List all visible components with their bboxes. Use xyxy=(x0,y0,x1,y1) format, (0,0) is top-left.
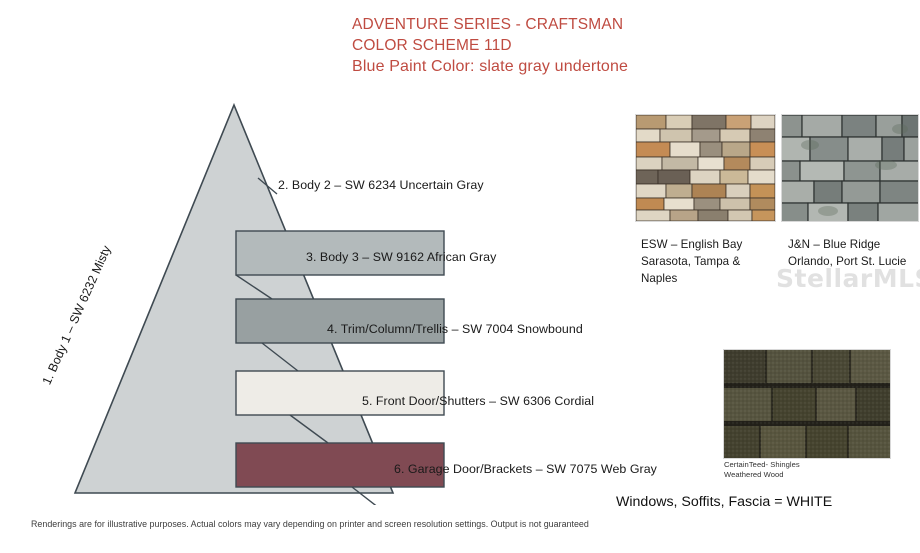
windows-soffits-fascia-note: Windows, Soffits, Fascia = WHITE xyxy=(616,494,832,510)
swatch-bar-trim xyxy=(236,371,444,415)
shingle-caption: CertainTeed- Shingles Weathered Wood xyxy=(724,460,894,480)
stone-esw-caption-l3: Naples xyxy=(641,270,776,287)
stone-photo-esw xyxy=(635,114,776,222)
shingle-caption-l2: Weathered Wood xyxy=(724,470,894,480)
stone-esw-caption-l2: Sarasota, Tampa & xyxy=(641,253,776,270)
stone-photo-jn xyxy=(781,114,919,222)
color-scheme-board: ADVENTURE SERIES - CRAFTSMAN COLOR SCHEM… xyxy=(0,0,920,553)
shingle-caption-l1: CertainTeed- Shingles xyxy=(724,460,894,470)
stone-jn-caption: J&N – Blue Ridge Orlando, Port St. Lucie xyxy=(788,236,920,270)
title-line-scheme: COLOR SCHEME 11D xyxy=(352,35,772,56)
disclaimer-text: Renderings are for illustrative purposes… xyxy=(31,519,589,529)
swatch-label-trim: 4. Trim/Column/Trellis – SW 7004 Snowbou… xyxy=(327,322,583,336)
stone-esw-caption: ESW – English Bay Sarasota, Tampa & Napl… xyxy=(641,236,776,287)
swatch-label-body3: 3. Body 3 – SW 9162 African Gray xyxy=(306,250,496,264)
shingle-image xyxy=(724,350,890,458)
stone-jn-caption-l2: Orlando, Port St. Lucie xyxy=(788,253,920,270)
swatch-bar-body3 xyxy=(236,299,444,343)
paint-scheme-diagram: 1. Body 1 – SW 6232 Misty 2. Body 2 – SW… xyxy=(0,95,680,505)
stone-esw-caption-l1: ESW – English Bay xyxy=(641,236,776,253)
diagram-svg xyxy=(0,95,680,505)
stone-esw-image xyxy=(636,115,775,221)
swatch-label-body2: 2. Body 2 – SW 6234 Uncertain Gray xyxy=(278,178,484,192)
stone-jn-image xyxy=(782,115,918,221)
title-block: ADVENTURE SERIES - CRAFTSMAN COLOR SCHEM… xyxy=(352,14,772,77)
swatch-label-front-door: 5. Front Door/Shutters – SW 6306 Cordial xyxy=(362,394,594,408)
swatch-label-garage-door: 6. Garage Door/Brackets – SW 7075 Web Gr… xyxy=(394,462,657,476)
title-line-paint-color: Blue Paint Color: slate gray undertone xyxy=(352,56,772,77)
title-line-series: ADVENTURE SERIES - CRAFTSMAN xyxy=(352,14,772,35)
shingle-photo xyxy=(723,349,891,459)
stone-jn-caption-l1: J&N – Blue Ridge xyxy=(788,236,920,253)
